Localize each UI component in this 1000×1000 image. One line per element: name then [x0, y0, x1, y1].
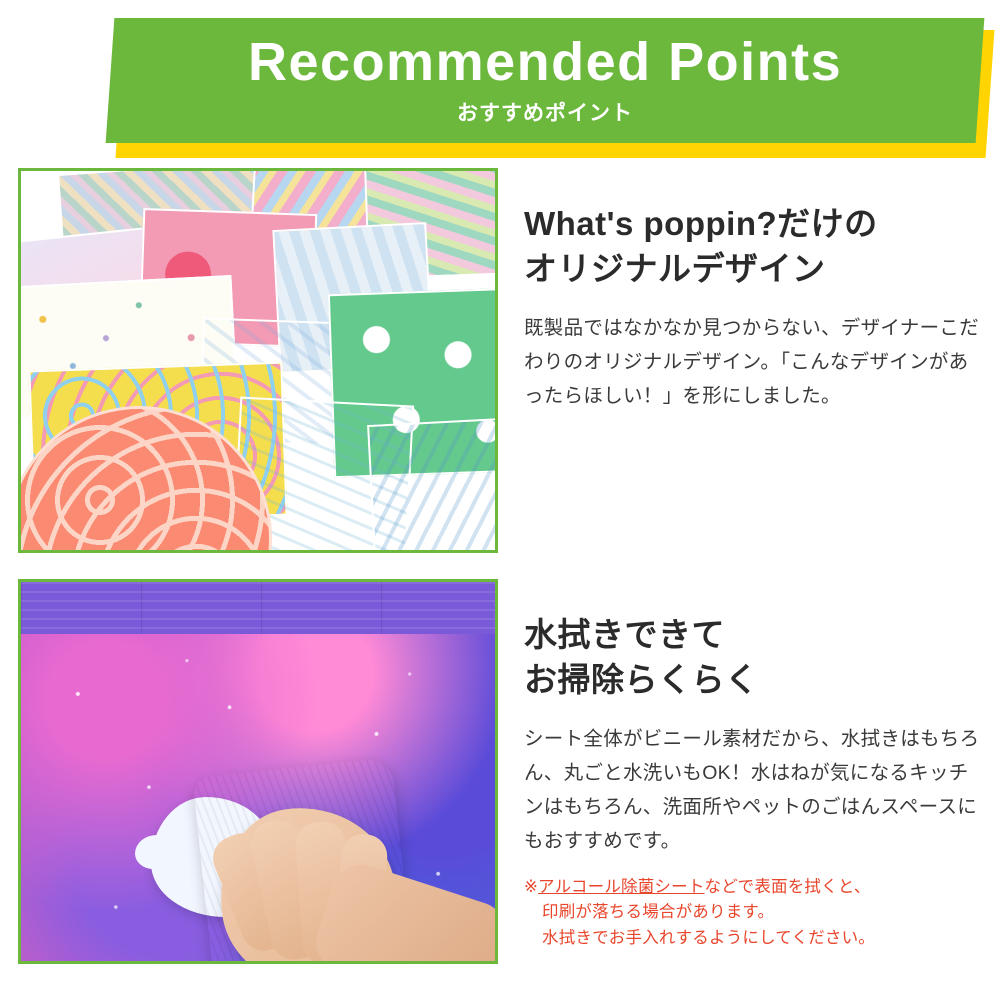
section-1-copy: What's poppin?だけの オリジナルデザイン 既製品ではなかなか見つか…	[498, 168, 982, 553]
section-2-heading: 水拭きできて お掃除らくらく	[524, 613, 982, 702]
caution-line-1: ※アルコール除菌シートなどで表面を拭くと、	[524, 875, 982, 901]
page-header: Recommended Points おすすめポイント	[0, 0, 1000, 168]
section-2-copy: 水拭きできて お掃除らくらく シート全体がビニール素材だから、水拭きはもちろん、…	[498, 579, 982, 964]
wood-floor-background	[21, 582, 495, 640]
photo-easy-clean	[18, 579, 498, 964]
caution-underlined-text: アルコール除菌シート	[538, 878, 705, 896]
caution-prefix: ※	[524, 878, 538, 896]
paper-samples-collage-illustration	[21, 171, 495, 550]
caution-suffix: などで表面を拭くと、	[705, 878, 871, 896]
section-2-body: シート全体がビニール素材だから、水拭きはもちろん、丸ごと水洗いもOK！水はねが気…	[524, 722, 982, 859]
header-green-band: Recommended Points おすすめポイント	[106, 18, 985, 143]
section-original-design: What's poppin?だけの オリジナルデザイン 既製品ではなかなか見つか…	[0, 168, 1000, 553]
photo-original-design	[18, 168, 498, 553]
caution-line-2: 印刷が落ちる場合があります。	[524, 900, 982, 926]
section-2-caution-note: ※アルコール除菌シートなどで表面を拭くと、 印刷が落ちる場合があります。 水拭き…	[524, 875, 982, 952]
caution-line-3: 水拭きでお手入れするようにしてください。	[524, 926, 982, 952]
section-2-heading-line-1: 水拭きできて	[524, 616, 725, 653]
section-gap	[0, 553, 1000, 579]
page-subtitle: おすすめポイント	[248, 97, 842, 127]
wiping-sheet-illustration	[21, 582, 495, 961]
section-1-heading-line-1: What's poppin?だけの	[524, 205, 878, 242]
section-1-body: 既製品ではなかなか見つからない、デザイナーこだわりのオリジナルデザイン。「こんな…	[524, 311, 982, 413]
section-1-heading: What's poppin?だけの オリジナルデザイン	[524, 202, 982, 291]
section-easy-clean: 水拭きできて お掃除らくらく シート全体がビニール素材だから、水拭きはもちろん、…	[0, 579, 1000, 964]
section-1-heading-line-2: オリジナルデザイン	[524, 250, 826, 287]
page-title: Recommended Points	[248, 34, 842, 91]
section-2-heading-line-2: お掃除らくらく	[524, 661, 759, 698]
